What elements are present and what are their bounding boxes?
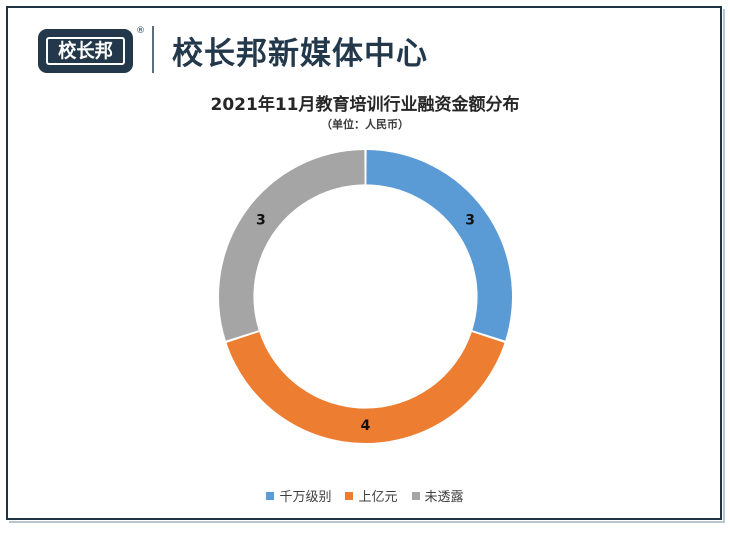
chart-subtitle: （单位：人民币） [0, 116, 730, 132]
brand-logo-frame: 校长邦 [46, 37, 125, 65]
donut-data-label-千万级别: 3 [465, 213, 475, 229]
donut-chart-svg: 343 [217, 148, 514, 445]
brand-logo-badge: 校长邦 [38, 29, 133, 73]
donut-slice-千万级别[interactable] [366, 150, 512, 341]
legend-swatch-icon [345, 492, 353, 500]
donut-slice-未透露[interactable] [219, 150, 365, 341]
brand-title: 校长邦新媒体中心 [172, 28, 428, 73]
donut-data-label-未透露: 3 [256, 213, 266, 229]
legend-item-千万级别[interactable]: 千万级别 [266, 486, 331, 505]
chart-title: 2021年11月教育培训行业融资金额分布 [0, 90, 730, 115]
registered-trademark-icon: ® [136, 26, 145, 36]
donut-chart: 343 [217, 148, 514, 445]
donut-slice-group [219, 150, 512, 443]
legend-label: 千万级别 [279, 486, 331, 505]
brand-logo-text: 校长邦 [58, 41, 113, 61]
legend-swatch-icon [412, 492, 420, 500]
donut-data-label-上亿元: 4 [361, 418, 371, 434]
header-divider [152, 26, 154, 73]
slide-canvas: 校长邦 ® 校长邦新媒体中心 2021年11月教育培训行业融资金额分布 （单位：… [0, 0, 730, 534]
legend-item-上亿元[interactable]: 上亿元 [345, 486, 397, 505]
brand-header: 校长邦 [38, 24, 133, 78]
legend-item-未透露[interactable]: 未透露 [412, 486, 464, 505]
legend-swatch-icon [266, 492, 274, 500]
legend-label: 未透露 [425, 486, 464, 505]
chart-legend: 千万级别上亿元未透露 [0, 486, 730, 505]
legend-label: 上亿元 [358, 486, 397, 505]
